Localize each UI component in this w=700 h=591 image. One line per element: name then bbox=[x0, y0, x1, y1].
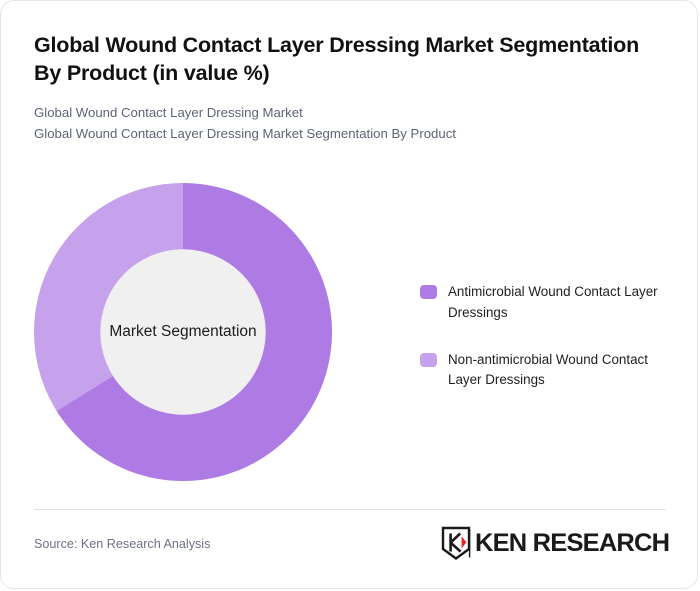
source-note: Source: Ken Research Analysis bbox=[34, 537, 210, 551]
chart-legend: Antimicrobial Wound Contact Layer Dressi… bbox=[420, 282, 672, 417]
footer-divider bbox=[34, 509, 666, 510]
donut-chart: Market Segmentation bbox=[34, 183, 332, 481]
chart-subtitle-2: Global Wound Contact Layer Dressing Mark… bbox=[34, 123, 654, 144]
chart-subtitle-1: Global Wound Contact Layer Dressing Mark… bbox=[34, 102, 654, 123]
donut-center-label: Market Segmentation bbox=[109, 323, 256, 341]
ken-research-logo-text: KEN RESEARCH bbox=[475, 531, 669, 556]
legend-item-label: Antimicrobial Wound Contact Layer Dressi… bbox=[448, 282, 672, 324]
legend-swatch-icon bbox=[420, 353, 437, 367]
chart-subtitles: Global Wound Contact Layer Dressing Mark… bbox=[34, 102, 654, 145]
legend-item-non-antimicrobial[interactable]: Non-antimicrobial Wound Contact Layer Dr… bbox=[420, 350, 672, 392]
chart-card: Global Wound Contact Layer Dressing Mark… bbox=[0, 0, 698, 589]
legend-item-antimicrobial[interactable]: Antimicrobial Wound Contact Layer Dressi… bbox=[420, 282, 672, 324]
ken-research-logo: KEN RESEARCH bbox=[441, 525, 665, 561]
page-title: Global Wound Contact Layer Dressing Mark… bbox=[34, 31, 654, 88]
ken-research-logo-mark-icon bbox=[441, 526, 471, 560]
legend-item-label: Non-antimicrobial Wound Contact Layer Dr… bbox=[448, 350, 672, 392]
donut-center-label-wrap: Market Segmentation bbox=[34, 183, 332, 481]
legend-swatch-icon bbox=[420, 285, 437, 299]
chart-header: Global Wound Contact Layer Dressing Mark… bbox=[34, 31, 654, 145]
